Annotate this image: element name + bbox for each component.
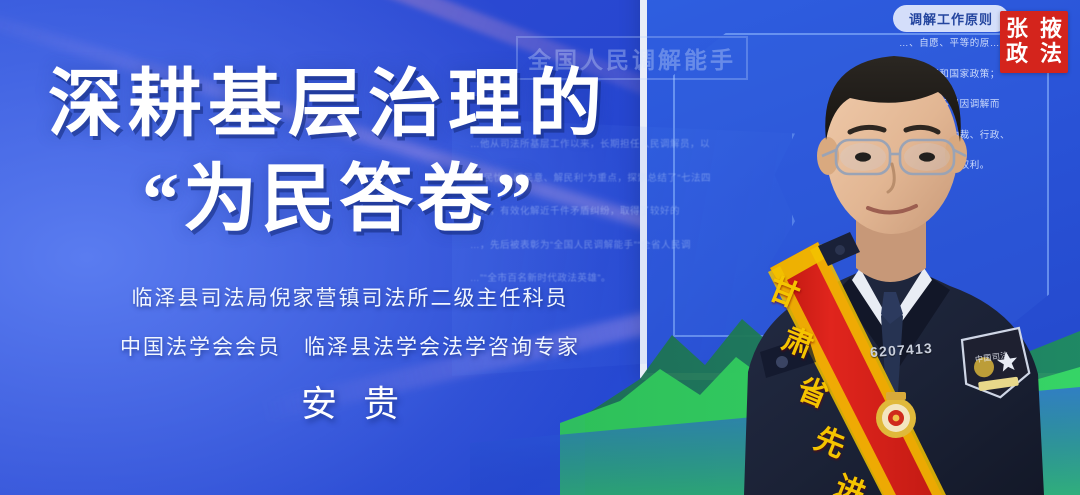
credential-line-2: 中国法学会会员 临泽县法学会法学咨询专家 bbox=[0, 337, 700, 358]
seal-char: 张 bbox=[1000, 17, 1034, 42]
headline-line-2: “为民答卷” bbox=[142, 163, 536, 237]
seal-char: 法 bbox=[1034, 42, 1068, 67]
credentials-block: 临泽县司法局倪家营镇司法所二级主任科员 中国法学会会员 临泽县法学会法学咨询专家… bbox=[0, 288, 700, 422]
portrait-photo: 6207413 中国司法 甘 肃 省 先 进 bbox=[700, 0, 1080, 495]
headline-line-1: 深耕基层治理的 bbox=[48, 68, 608, 142]
seal-char: 掖 bbox=[1034, 17, 1068, 42]
portrait-illustration bbox=[700, 0, 1080, 495]
person-name: 安贵 bbox=[0, 386, 700, 422]
seal-char: 政 bbox=[1000, 42, 1034, 67]
poster-canvas: 调解工作原则 …、自愿、平等的原… …、法规和国家政策； …权利，不得因调解而 … bbox=[0, 0, 1080, 495]
publisher-seal: 张 掖 政 法 bbox=[1000, 11, 1068, 73]
credential-line-1: 临泽县司法局倪家营镇司法所二级主任科员 bbox=[0, 288, 700, 309]
